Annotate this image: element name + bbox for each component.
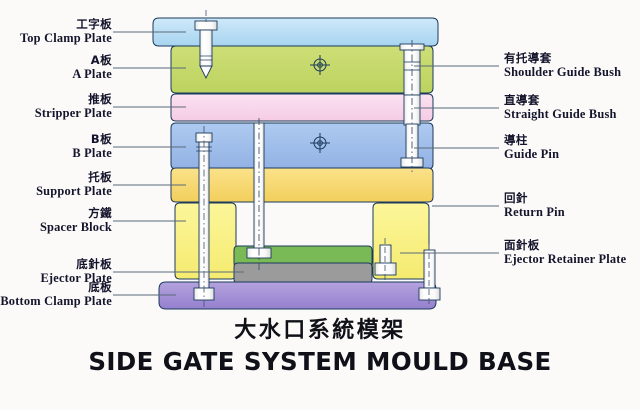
label-return-pin: 回針 Return Pin bbox=[504, 193, 565, 219]
label-cn: 方鐵 bbox=[0, 208, 112, 220]
support-bolt bbox=[424, 250, 435, 288]
label-cn: 工字板 bbox=[0, 19, 112, 31]
plate-stripper-plate bbox=[171, 94, 433, 121]
label-top-clamp-plate: 工字板 Top Clamp Plate bbox=[0, 19, 112, 45]
label-cn: 托板 bbox=[0, 172, 112, 184]
plate-support-plate bbox=[171, 168, 433, 202]
label-bottom-clamp-plate: 底板 Bottom Clamp Plate bbox=[0, 282, 112, 308]
title-chinese: 大水口系統模架 bbox=[0, 312, 640, 344]
label-en: Guide Pin bbox=[504, 148, 559, 161]
label-en: Straight Guide Bush bbox=[504, 108, 617, 121]
label-en: Spacer Block bbox=[0, 221, 112, 234]
label-guide-pin: 導柱 Guide Pin bbox=[504, 135, 559, 161]
label-en: Return Pin bbox=[504, 206, 565, 219]
label-en: Stripper Plate bbox=[0, 107, 112, 120]
label-en: Ejector Retainer Plate bbox=[504, 253, 626, 266]
title-english: SIDE GATE SYSTEM MOULD BASE bbox=[0, 347, 640, 376]
label-cn: 有托導套 bbox=[504, 53, 621, 65]
bolt-shank bbox=[200, 30, 212, 66]
label-spacer-block: 方鐵 Spacer Block bbox=[0, 208, 112, 234]
label-cn: 底針板 bbox=[0, 259, 112, 271]
label-en: Bottom Clamp Plate bbox=[0, 295, 112, 308]
label-ejector-retainer-plate: 面針板 Ejector Retainer Plate bbox=[504, 240, 626, 266]
label-cn: B板 bbox=[0, 134, 112, 146]
label-en: Support Plate bbox=[0, 185, 112, 198]
label-cn: 推板 bbox=[0, 94, 112, 106]
label-stripper-plate: 推板 Stripper Plate bbox=[0, 94, 112, 120]
label-a-plate: A板 A Plate bbox=[0, 55, 112, 81]
plate-ejector-plate bbox=[234, 263, 372, 283]
label-b-plate: B板 B Plate bbox=[0, 134, 112, 160]
label-cn: 導柱 bbox=[504, 135, 559, 147]
label-cn: 面針板 bbox=[504, 240, 626, 252]
return-pin bbox=[380, 245, 391, 265]
diagram-canvas: 工字板 Top Clamp Plate A板 A Plate 推板 Stripp… bbox=[0, 0, 640, 410]
label-en: Top Clamp Plate bbox=[0, 32, 112, 45]
support-bolt-head bbox=[419, 288, 440, 300]
return-pin-foot bbox=[375, 263, 396, 275]
label-shoulder-guide-bush: 有托導套 Shoulder Guide Bush bbox=[504, 53, 621, 79]
label-cn: A板 bbox=[0, 55, 112, 67]
bolt-head bbox=[195, 21, 217, 30]
plate-b-plate bbox=[171, 123, 433, 169]
label-cn: 底板 bbox=[0, 282, 112, 294]
label-en: B Plate bbox=[0, 147, 112, 160]
label-en: Shoulder Guide Bush bbox=[504, 66, 621, 79]
label-en: A Plate bbox=[0, 68, 112, 81]
label-cn: 直導套 bbox=[504, 95, 617, 107]
label-straight-guide-bush: 直導套 Straight Guide Bush bbox=[504, 95, 617, 121]
label-support-plate: 托板 Support Plate bbox=[0, 172, 112, 198]
label-cn: 回針 bbox=[504, 193, 565, 205]
title-block: 大水口系統模架 SIDE GATE SYSTEM MOULD BASE bbox=[0, 312, 640, 376]
